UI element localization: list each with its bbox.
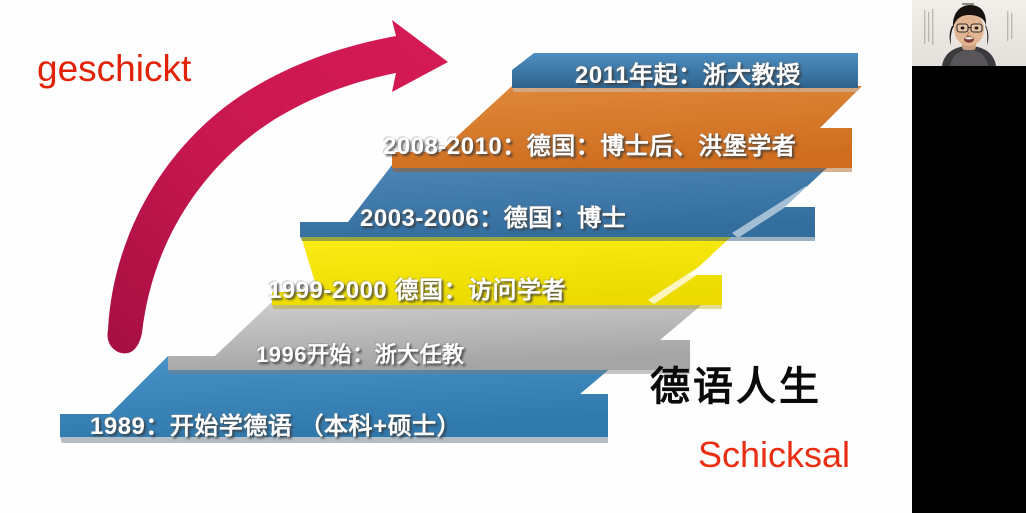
- screen: 2011年起：浙大教授 2008-2010：德国：博士后、洪堡学者 2003-2…: [0, 0, 1026, 513]
- presenter-webcam-tile[interactable]: [912, 0, 1026, 66]
- timeline-label-2003: 2003-2006：德国：博士: [360, 198, 626, 233]
- timeline-label-1999: 1999-2000 德国：访问学者: [268, 270, 566, 305]
- right-black-bar: [912, 0, 1026, 513]
- timeline-label-1996: 1996开始：浙大任教: [256, 337, 464, 369]
- timeline-label-2008: 2008-2010：德国：博士后、洪堡学者: [383, 126, 796, 161]
- presentation-slide: 2011年起：浙大教授 2008-2010：德国：博士后、洪堡学者 2003-2…: [0, 0, 912, 513]
- timeline-label-2011: 2011年起：浙大教授: [575, 55, 801, 90]
- slide-title: 德语人生: [650, 354, 822, 412]
- annotation-schicksal: Schicksal: [698, 434, 850, 476]
- timeline-label-1989: 1989：开始学德语 （本科+硕士）: [90, 406, 461, 441]
- annotation-geschickt: geschickt: [37, 48, 191, 90]
